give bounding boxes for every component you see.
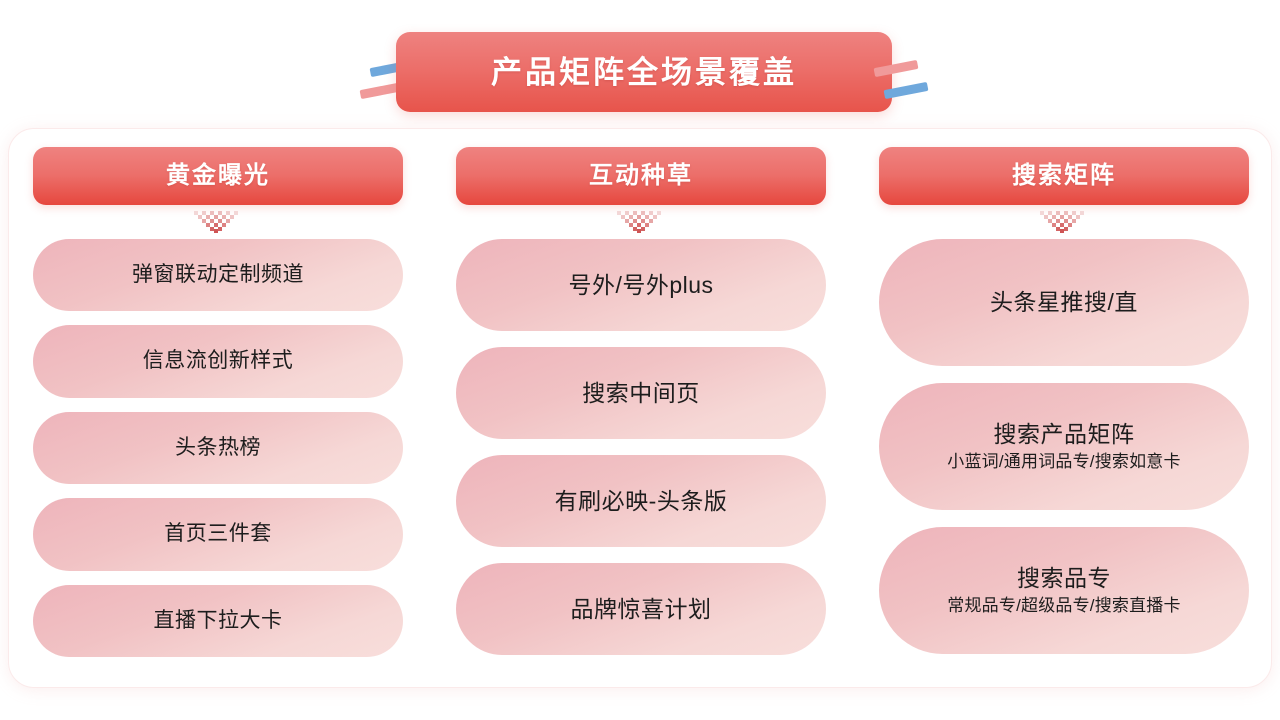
pill-title: 头条热榜 — [175, 435, 261, 461]
column-interactive-seeding: 互动种草 — [456, 147, 826, 671]
pill-title: 搜索品专 — [1017, 564, 1111, 593]
halftone-chevron-down-icon — [194, 211, 242, 233]
title-banner-group: 产品矩阵全场景覆盖 — [374, 32, 914, 114]
product-pill[interactable]: 首页三件套 — [33, 498, 403, 570]
product-pill[interactable]: 搜索品专 常规品专/超级品专/搜索直播卡 — [879, 527, 1249, 654]
pill-list-3: 头条星推搜/直 搜索产品矩阵 小蓝词/通用词品专/搜索如意卡 搜索品专 常规品专… — [879, 239, 1249, 671]
pill-subtitle: 小蓝词/通用词品专/搜索如意卡 — [947, 451, 1180, 473]
pill-subtitle: 常规品专/超级品专/搜索直播卡 — [947, 595, 1180, 617]
title-banner: 产品矩阵全场景覆盖 — [396, 32, 892, 112]
product-pill[interactable]: 直播下拉大卡 — [33, 585, 403, 657]
product-pill[interactable]: 头条热榜 — [33, 412, 403, 484]
page-title: 产品矩阵全场景覆盖 — [491, 57, 797, 88]
pill-title: 有刷必映-头条版 — [555, 487, 728, 516]
product-pill[interactable]: 信息流创新样式 — [33, 325, 403, 397]
diagram-root: 产品矩阵全场景覆盖 黄金曝光 — [0, 0, 1280, 720]
column-header-label: 互动种草 — [589, 164, 693, 188]
arrow-row-2 — [456, 205, 826, 239]
matrix-card: 黄金曝光 — [8, 128, 1272, 688]
column-search-matrix: 搜索矩阵 — [879, 147, 1249, 671]
pill-list-2: 号外/号外plus 搜索中间页 有刷必映-头条版 品牌惊喜计划 — [456, 239, 826, 671]
pill-title: 首页三件套 — [164, 521, 272, 547]
product-pill[interactable]: 头条星推搜/直 — [879, 239, 1249, 366]
column-header-search-matrix[interactable]: 搜索矩阵 — [879, 147, 1249, 205]
columns-container: 黄金曝光 — [9, 129, 1273, 689]
arrow-row-3 — [879, 205, 1249, 239]
pill-title: 弹窗联动定制频道 — [132, 262, 304, 288]
pill-list-1: 弹窗联动定制频道 信息流创新样式 头条热榜 首页三件套 直播下拉大卡 — [33, 239, 403, 671]
column-header-label: 黄金曝光 — [166, 164, 270, 188]
column-golden-exposure: 黄金曝光 — [33, 147, 403, 671]
pill-title: 品牌惊喜计划 — [571, 595, 712, 624]
halftone-chevron-down-icon — [1040, 211, 1088, 233]
column-header-label: 搜索矩阵 — [1012, 164, 1116, 188]
column-header-interactive-seeding[interactable]: 互动种草 — [456, 147, 826, 205]
pill-title: 搜索中间页 — [582, 379, 700, 408]
pill-title: 头条星推搜/直 — [990, 288, 1138, 317]
halftone-chevron-down-icon — [617, 211, 665, 233]
product-pill[interactable]: 搜索产品矩阵 小蓝词/通用词品专/搜索如意卡 — [879, 383, 1249, 510]
column-header-golden-exposure[interactable]: 黄金曝光 — [33, 147, 403, 205]
pill-title: 信息流创新样式 — [143, 348, 294, 374]
product-pill[interactable]: 搜索中间页 — [456, 347, 826, 439]
product-pill[interactable]: 弹窗联动定制频道 — [33, 239, 403, 311]
pill-title: 号外/号外plus — [568, 271, 713, 300]
product-pill[interactable]: 号外/号外plus — [456, 239, 826, 331]
pill-title: 搜索产品矩阵 — [994, 420, 1135, 449]
product-pill[interactable]: 品牌惊喜计划 — [456, 563, 826, 655]
product-pill[interactable]: 有刷必映-头条版 — [456, 455, 826, 547]
pill-title: 直播下拉大卡 — [154, 608, 283, 634]
arrow-row-1 — [33, 205, 403, 239]
